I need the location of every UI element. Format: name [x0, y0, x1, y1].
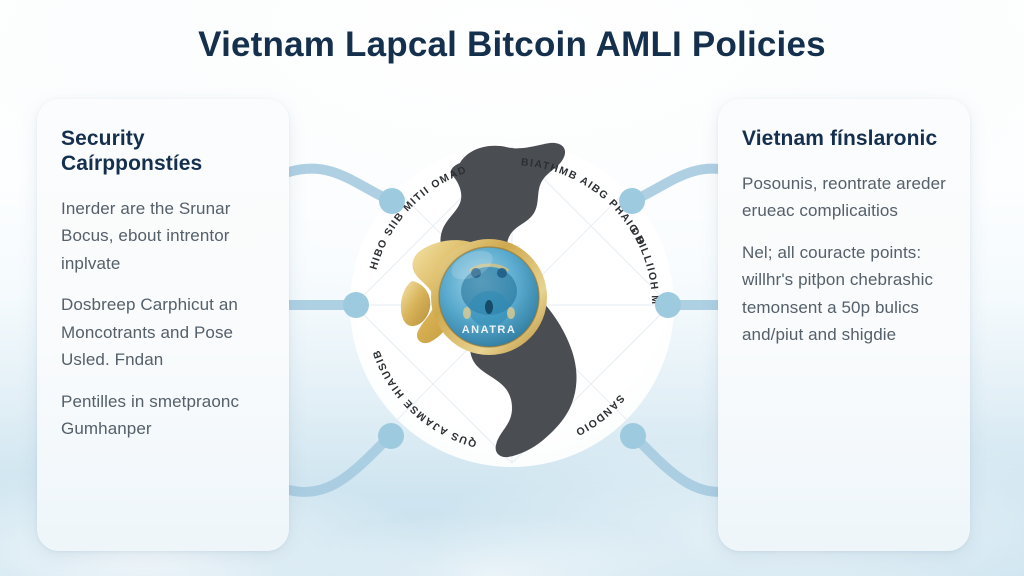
coin-inscription: ANATRA [462, 324, 517, 336]
page-title: Vietnam Lapcal Bitcoin AMLI Policies [0, 25, 1024, 65]
card-left-heading: Security Caírpponstíes [61, 127, 265, 177]
card-left-paragraph-1: Inerder are the Srunar Bocus, ebout intr… [61, 195, 265, 278]
card-right-paragraph-2: Nel; all couracte points: willhr's pitþo… [742, 239, 946, 349]
card-vietnam[interactable]: Vietnam fínslaronic Posounis, reontrate … [718, 99, 970, 551]
card-security[interactable]: Security Caírpponstíes Inerder are the S… [37, 99, 289, 551]
coin-emblem: ANATRA [401, 239, 547, 355]
card-right-paragraph-1: Posounis, reontrate areder erueac compli… [742, 170, 946, 225]
infographic-canvas: Vietnam Lapcal Bitcoin AMLI Policies [0, 0, 1024, 576]
card-left-paragraph-2: Dosbreep Carphicut an Moncotrants and Po… [61, 291, 265, 374]
card-right-heading: Vietnam fínslaronic [742, 127, 946, 152]
card-left-paragraph-3: Pentilles in smetpraonc Gumhanper [61, 388, 265, 443]
center-graphic: ANATRA BIATHMB AIBG PHAIG D DHILLIIOH MI… [292, 85, 732, 525]
